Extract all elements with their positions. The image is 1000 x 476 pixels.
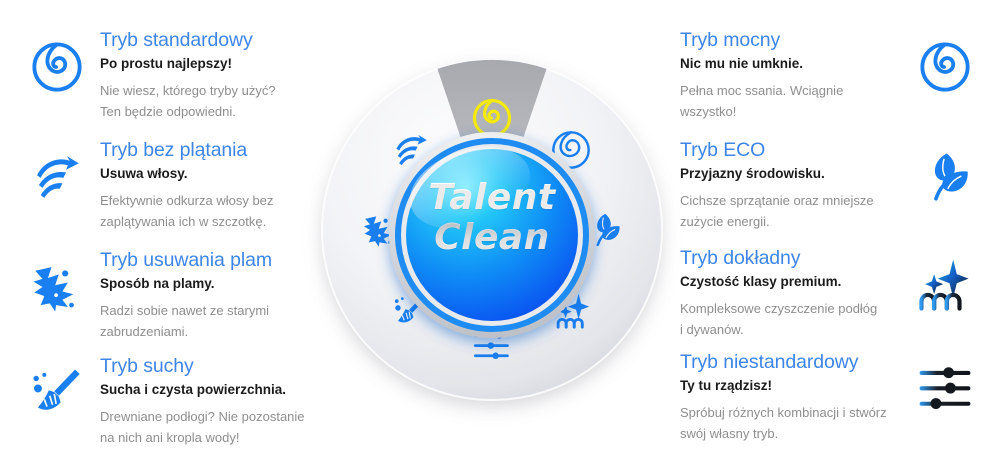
feature-description-line: Cichsze sprzątanie oraz mniejsze [680, 190, 900, 211]
feature-title: Tryb suchy [100, 354, 312, 378]
feature-text: Tryb standardowy Po prostu najlepszy! Ni… [100, 28, 312, 122]
feature-subtitle: Ty tu rządzisz! [680, 376, 900, 396]
feature-text: Tryb bez plątania Usuwa włosy. Efektywni… [100, 138, 312, 232]
feature-description: Drewniane podłogi? Nie pozostanie na nic… [100, 406, 312, 448]
feature-title: Tryb dokładny [680, 246, 900, 270]
feature-tryb-standardowy[interactable]: Tryb standardowy Po prostu najlepszy! Ni… [12, 28, 312, 133]
feature-tryb-suchy[interactable]: Tryb suchy Sucha i czysta powierzchnia. … [12, 354, 312, 459]
feature-title: Tryb niestandardowy [680, 350, 900, 374]
feature-subtitle: Sucha i czysta powierzchnia. [100, 380, 312, 400]
feature-subtitle: Sposób na plamy. [100, 274, 312, 294]
feature-subtitle: Usuwa włosy. [100, 164, 312, 184]
mode-selector-dial[interactable]: Talent Clean [292, 30, 692, 450]
feature-description-line: i dywanów. [680, 319, 900, 340]
feature-text: Tryb niestandardowy Ty tu rządzisz! Spró… [680, 350, 900, 444]
feature-tryb-niestandardowy[interactable]: Tryb niestandardowy Ty tu rządzisz! Spró… [680, 350, 1000, 455]
feature-title: Tryb usuwania plam [100, 248, 312, 272]
feature-description-line: Efektywnie odkurza włosy bez [100, 190, 312, 211]
right-feature-column: Tryb mocny Nic mu nie umknie. Pełna moc … [680, 0, 1000, 476]
feature-description: Radzi sobie nawet ze starymi zabrudzenia… [100, 300, 312, 342]
feature-text: Tryb ECO Przyjazny środowisku. Cichsze s… [680, 138, 900, 232]
feature-description: Spróbuj różnych kombinacji i stwórz swój… [680, 402, 900, 444]
stain-splash-icon [20, 250, 94, 324]
feature-description-line: Radzi sobie nawet ze starymi [100, 300, 312, 321]
feature-subtitle: Przyjazny środowisku. [680, 164, 900, 184]
feature-title: Tryb ECO [680, 138, 900, 162]
infographic-stage: Tryb standardowy Po prostu najlepszy! Ni… [0, 0, 1000, 476]
feature-description-line: zabrudzeniami. [100, 321, 312, 342]
feature-text: Tryb dokładny Czystość klasy premium. Ko… [680, 246, 900, 340]
feature-description-line: Nie wiesz, którego tryby użyć? [100, 80, 312, 101]
feature-description-line: swój własny tryb. [680, 423, 900, 444]
feature-description: Kompleksowe czyszczenie podłóg i dywanów… [680, 298, 900, 340]
anti-tangle-arrow-icon [20, 140, 94, 214]
left-feature-column: Tryb standardowy Po prostu najlepszy! Ni… [12, 0, 312, 476]
feature-description-line: zużycie energii. [680, 211, 900, 232]
feature-description: Nie wiesz, którego tryby użyć? Ten będzi… [100, 80, 312, 122]
eco-leaf-icon [908, 140, 982, 214]
sliders-custom-icon [908, 352, 982, 426]
feature-text: Tryb suchy Sucha i czysta powierzchnia. … [100, 354, 312, 448]
feature-description: Pełna moc ssania. Wciągnie wszystko! [680, 80, 900, 122]
feature-title: Tryb bez plątania [100, 138, 312, 162]
feature-title: Tryb mocny [680, 28, 900, 52]
feature-description-line: Pełna moc ssania. Wciągnie [680, 80, 900, 101]
spiral-swirl-icon [20, 30, 94, 104]
feature-description-line: na nich ani kropla wody! [100, 427, 312, 448]
feature-description-line: wszystko! [680, 101, 900, 122]
feature-tryb-bez-platania[interactable]: Tryb bez plątania Usuwa włosy. Efektywni… [12, 138, 312, 243]
dial-center-knob[interactable] [389, 132, 595, 338]
feature-tryb-dokladny[interactable]: Tryb dokładny Czystość klasy premium. Ko… [680, 246, 1000, 351]
sparkle-carpet-icon [908, 248, 982, 322]
feature-subtitle: Czystość klasy premium. [680, 272, 900, 292]
feature-tryb-eco[interactable]: Tryb ECO Przyjazny środowisku. Cichsze s… [680, 138, 1000, 243]
turbo-vortex-icon [908, 30, 982, 104]
feature-title: Tryb standardowy [100, 28, 312, 52]
feature-tryb-usuwania-plam[interactable]: Tryb usuwania plam Sposób na plamy. Radz… [12, 248, 312, 353]
feature-tryb-mocny[interactable]: Tryb mocny Nic mu nie umknie. Pełna moc … [680, 28, 1000, 133]
feature-text: Tryb mocny Nic mu nie umknie. Pełna moc … [680, 28, 900, 122]
broom-dry-icon [20, 356, 94, 430]
feature-subtitle: Nic mu nie umknie. [680, 54, 900, 74]
feature-description-line: Kompleksowe czyszczenie podłóg [680, 298, 900, 319]
feature-description: Cichsze sprzątanie oraz mniejsze zużycie… [680, 190, 900, 232]
feature-description-line: Drewniane podłogi? Nie pozostanie [100, 406, 312, 427]
feature-description-line: zaplątywania ich w szczotkę. [100, 211, 312, 232]
feature-text: Tryb usuwania plam Sposób na plamy. Radz… [100, 248, 312, 342]
feature-description-line: Ten będzie odpowiedni. [100, 101, 312, 122]
feature-subtitle: Po prostu najlepszy! [100, 54, 312, 74]
feature-description: Efektywnie odkurza włosy bez zaplątywani… [100, 190, 312, 232]
feature-description-line: Spróbuj różnych kombinacji i stwórz [680, 402, 900, 423]
